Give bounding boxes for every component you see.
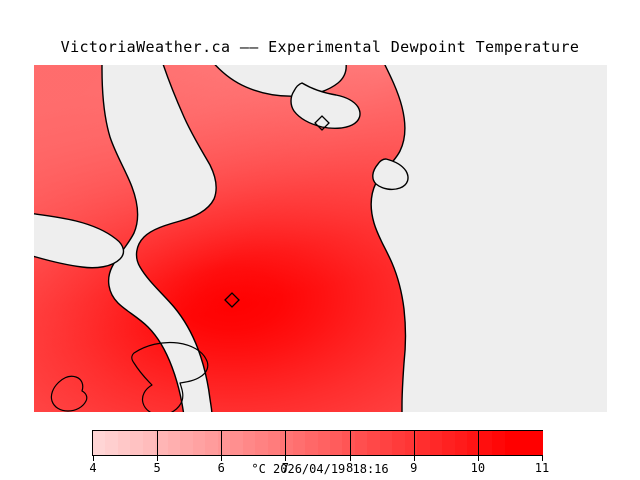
colorbar-segment: [118, 431, 131, 455]
colorbar-segment: [268, 431, 281, 455]
page-title: VictoriaWeather.ca —— Experimental Dewpo…: [0, 38, 640, 56]
colorbar-segment: [280, 431, 293, 455]
colorbar-segment: [193, 431, 206, 455]
colorbar-segment: [330, 431, 343, 455]
colorbar-segment: [305, 431, 318, 455]
colorbar-segment: [143, 431, 156, 455]
colorbar-segment: [255, 431, 268, 455]
colorbar-caption: °C 2026/04/19 18:16: [0, 462, 640, 476]
colorbar-segment: [405, 431, 418, 455]
colorbar-segment: [417, 431, 430, 455]
colorbar-segment: [105, 431, 118, 455]
east-coast-land: [371, 65, 607, 412]
colorbar-tick: [350, 430, 351, 456]
colorbar-segment: [455, 431, 468, 455]
colorbar-segment: [367, 431, 380, 455]
colorbar-segment: [168, 431, 181, 455]
colorbar-segment: [442, 431, 455, 455]
colorbar[interactable]: 4567891011: [92, 430, 543, 456]
colorbar-segment: [517, 431, 530, 455]
colorbar-segment: [230, 431, 243, 455]
colorbar-segment: [355, 431, 368, 455]
colorbar-segment: [492, 431, 505, 455]
colorbar-segment: [130, 431, 143, 455]
colorbar-gradient: [92, 430, 543, 456]
colorbar-segment: [205, 431, 218, 455]
colorbar-tick: [478, 430, 479, 456]
colorbar-segment: [218, 431, 231, 455]
colorbar-segment: [243, 431, 256, 455]
dewpoint-contour-map[interactable]: [34, 65, 607, 412]
colorbar-segment: [380, 431, 393, 455]
colorbar-segment: [293, 431, 306, 455]
colorbar-segment: [392, 431, 405, 455]
colorbar-segment: [93, 431, 106, 455]
colorbar-tick: [157, 430, 158, 456]
colorbar-segment: [505, 431, 518, 455]
colorbar-segment: [530, 431, 543, 455]
colorbar-segment: [318, 431, 331, 455]
colorbar-segment: [430, 431, 443, 455]
colorbar-tick: [414, 430, 415, 456]
colorbar-tick: [221, 430, 222, 456]
colorbar-segment: [480, 431, 493, 455]
map-panel[interactable]: [34, 65, 607, 412]
colorbar-tick: [285, 430, 286, 456]
colorbar-segment: [180, 431, 193, 455]
